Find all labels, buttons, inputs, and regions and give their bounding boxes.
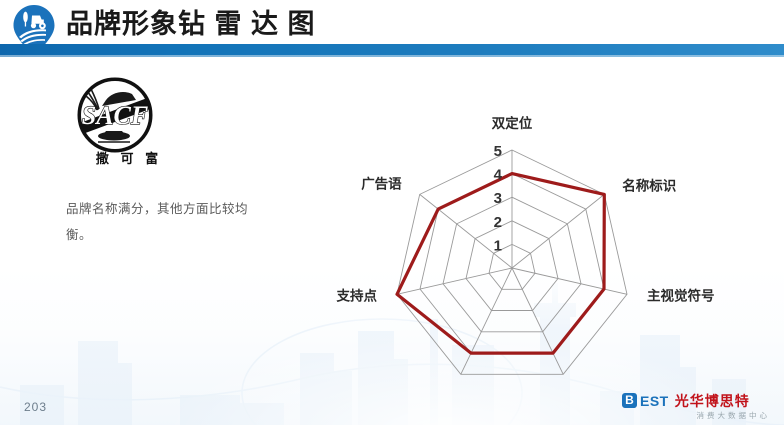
radar-chart: 12345 双定位名称标识主视觉符号概念点利益点支持点广告语 <box>330 78 770 378</box>
radar-tick-label: 4 <box>494 167 503 184</box>
radar-tick-label: 3 <box>494 190 502 207</box>
radar-tick-label: 5 <box>494 143 502 160</box>
brand-description: 品牌名称满分，其他方面比较均衡。 <box>66 196 271 248</box>
company-brand-mark: B EST 光华博思特 消费大数据中心 <box>622 392 772 422</box>
brand-mark-row: B EST 光华博思特 <box>622 392 772 409</box>
radar-axis-labels: 双定位名称标识主视觉符号概念点利益点支持点广告语 <box>336 115 715 378</box>
page-title: 品牌形象钻 雷 达 图 <box>66 6 316 42</box>
radar-axis-label: 广告语 <box>361 175 402 191</box>
company-tagline: 消费大数据中心 <box>622 410 772 421</box>
radar-spokes <box>397 150 627 374</box>
radar-axis-label: 主视觉符号 <box>647 287 715 303</box>
radar-axis-label: 支持点 <box>336 287 378 303</box>
best-b-icon: B <box>622 393 637 408</box>
page-number: 203 <box>24 400 47 414</box>
slide-root: 品牌形象钻 雷 达 图 SACF 撒 可 富 品牌名称满分，其他方面比较均衡。 <box>0 0 784 425</box>
radar-axis-label: 双定位 <box>492 115 533 131</box>
radar-tick-labels: 12345 <box>494 143 503 254</box>
company-name-cn: 光华博思特 <box>675 391 750 411</box>
brand-name-cn: 撒 可 富 <box>74 148 184 167</box>
radar-tick-label: 2 <box>494 214 502 231</box>
radar-tick-label: 1 <box>494 237 502 254</box>
sacf-circular-emblem-icon: SACF <box>76 76 154 154</box>
radar-spoke <box>512 268 563 374</box>
radar-spoke <box>461 268 512 374</box>
radar-axis-label: 名称标识 <box>622 177 676 193</box>
best-est-text: EST <box>640 393 669 409</box>
header-accent-bar <box>0 44 784 57</box>
svg-text:SACF: SACF <box>82 101 149 130</box>
